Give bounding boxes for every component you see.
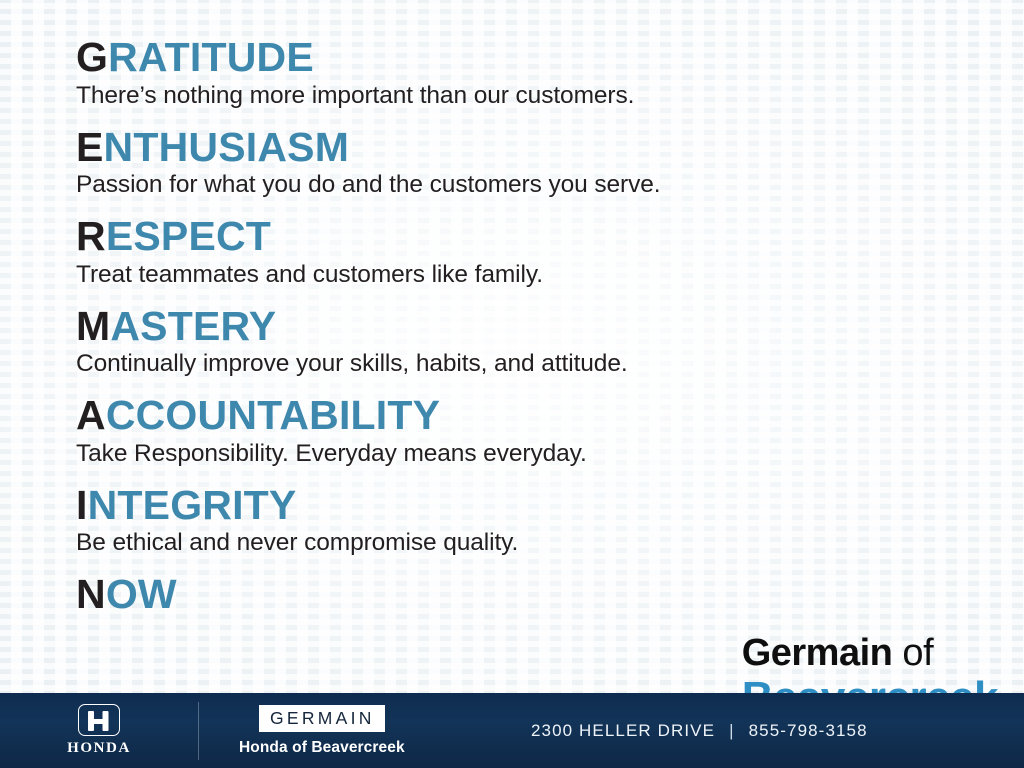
value-word-gratitude: GRATITUDE	[76, 36, 984, 79]
honda-h-emblem-icon	[78, 704, 120, 736]
watermark-germain: Germain	[742, 632, 893, 674]
value-word-mastery: MASTERY	[76, 305, 984, 348]
germain-dealer-subtitle: Honda of Beavercreek	[239, 739, 405, 757]
germain-name: GERMAIN	[270, 708, 375, 728]
footer-bar: HONDA GERMAIN Honda of Beavercreek 2300 …	[0, 693, 1024, 768]
germain-name-box: GERMAIN	[259, 705, 385, 732]
value-description-mastery: Continually improve your skills, habits,…	[76, 350, 984, 379]
value-row-mastery: MASTERY Continually improve your skills,…	[76, 305, 984, 380]
germain-dealer-logo: GERMAIN Honda of Beavercreek	[199, 705, 405, 757]
value-description-accountability: Take Responsibility. Everyday means ever…	[76, 440, 984, 469]
value-word-respect: RESPECT	[76, 215, 984, 258]
value-word-integrity: INTEGRITY	[76, 484, 984, 527]
value-rest: OW	[106, 571, 177, 617]
value-word-enthusiasm: ENTHUSIASM	[76, 126, 984, 169]
value-word-now: NOW	[76, 573, 984, 616]
watermark-of: of	[892, 632, 933, 674]
value-initial: R	[76, 213, 106, 259]
value-initial: E	[76, 124, 104, 170]
value-initial: N	[76, 571, 106, 617]
value-row-accountability: ACCOUNTABILITY Take Responsibility. Ever…	[76, 394, 984, 469]
value-description-enthusiasm: Passion for what you do and the customer…	[76, 171, 984, 200]
core-values-list: GRATITUDE There’s nothing more important…	[76, 36, 984, 616]
value-initial: A	[76, 392, 106, 438]
value-description-integrity: Be ethical and never compromise quality.	[76, 529, 984, 558]
value-word-accountability: ACCOUNTABILITY	[76, 394, 984, 437]
value-rest: RATITUDE	[108, 34, 314, 80]
footer-address: 2300 HELLER DRIVE	[531, 721, 715, 741]
value-initial: M	[76, 303, 110, 349]
value-rest: ASTERY	[110, 303, 276, 349]
value-rest: CCOUNTABILITY	[106, 392, 440, 438]
footer-contact-info: 2300 HELLER DRIVE | 855-798-3158	[405, 721, 1024, 741]
value-initial: G	[76, 34, 108, 80]
value-description-respect: Treat teammates and customers like famil…	[76, 261, 984, 290]
footer-separator: |	[729, 721, 735, 741]
footer-phone[interactable]: 855-798-3158	[749, 721, 868, 741]
honda-logo: HONDA	[67, 704, 131, 757]
value-row-integrity: INTEGRITY Be ethical and never compromis…	[76, 484, 984, 559]
value-initial: I	[76, 482, 88, 528]
value-row-now: NOW	[76, 573, 984, 616]
watermark-line-germain-of: Germain of	[742, 634, 998, 672]
value-rest: ESPECT	[106, 213, 271, 259]
value-row-enthusiasm: ENTHUSIASM Passion for what you do and t…	[76, 126, 984, 201]
honda-wordmark: HONDA	[67, 740, 131, 757]
value-rest: NTEGRITY	[88, 482, 297, 528]
value-row-gratitude: GRATITUDE There’s nothing more important…	[76, 36, 984, 111]
value-description-gratitude: There’s nothing more important than our …	[76, 82, 984, 111]
value-rest: NTHUSIASM	[104, 124, 350, 170]
value-row-respect: RESPECT Treat teammates and customers li…	[76, 215, 984, 290]
honda-logo-block: HONDA	[0, 693, 198, 768]
